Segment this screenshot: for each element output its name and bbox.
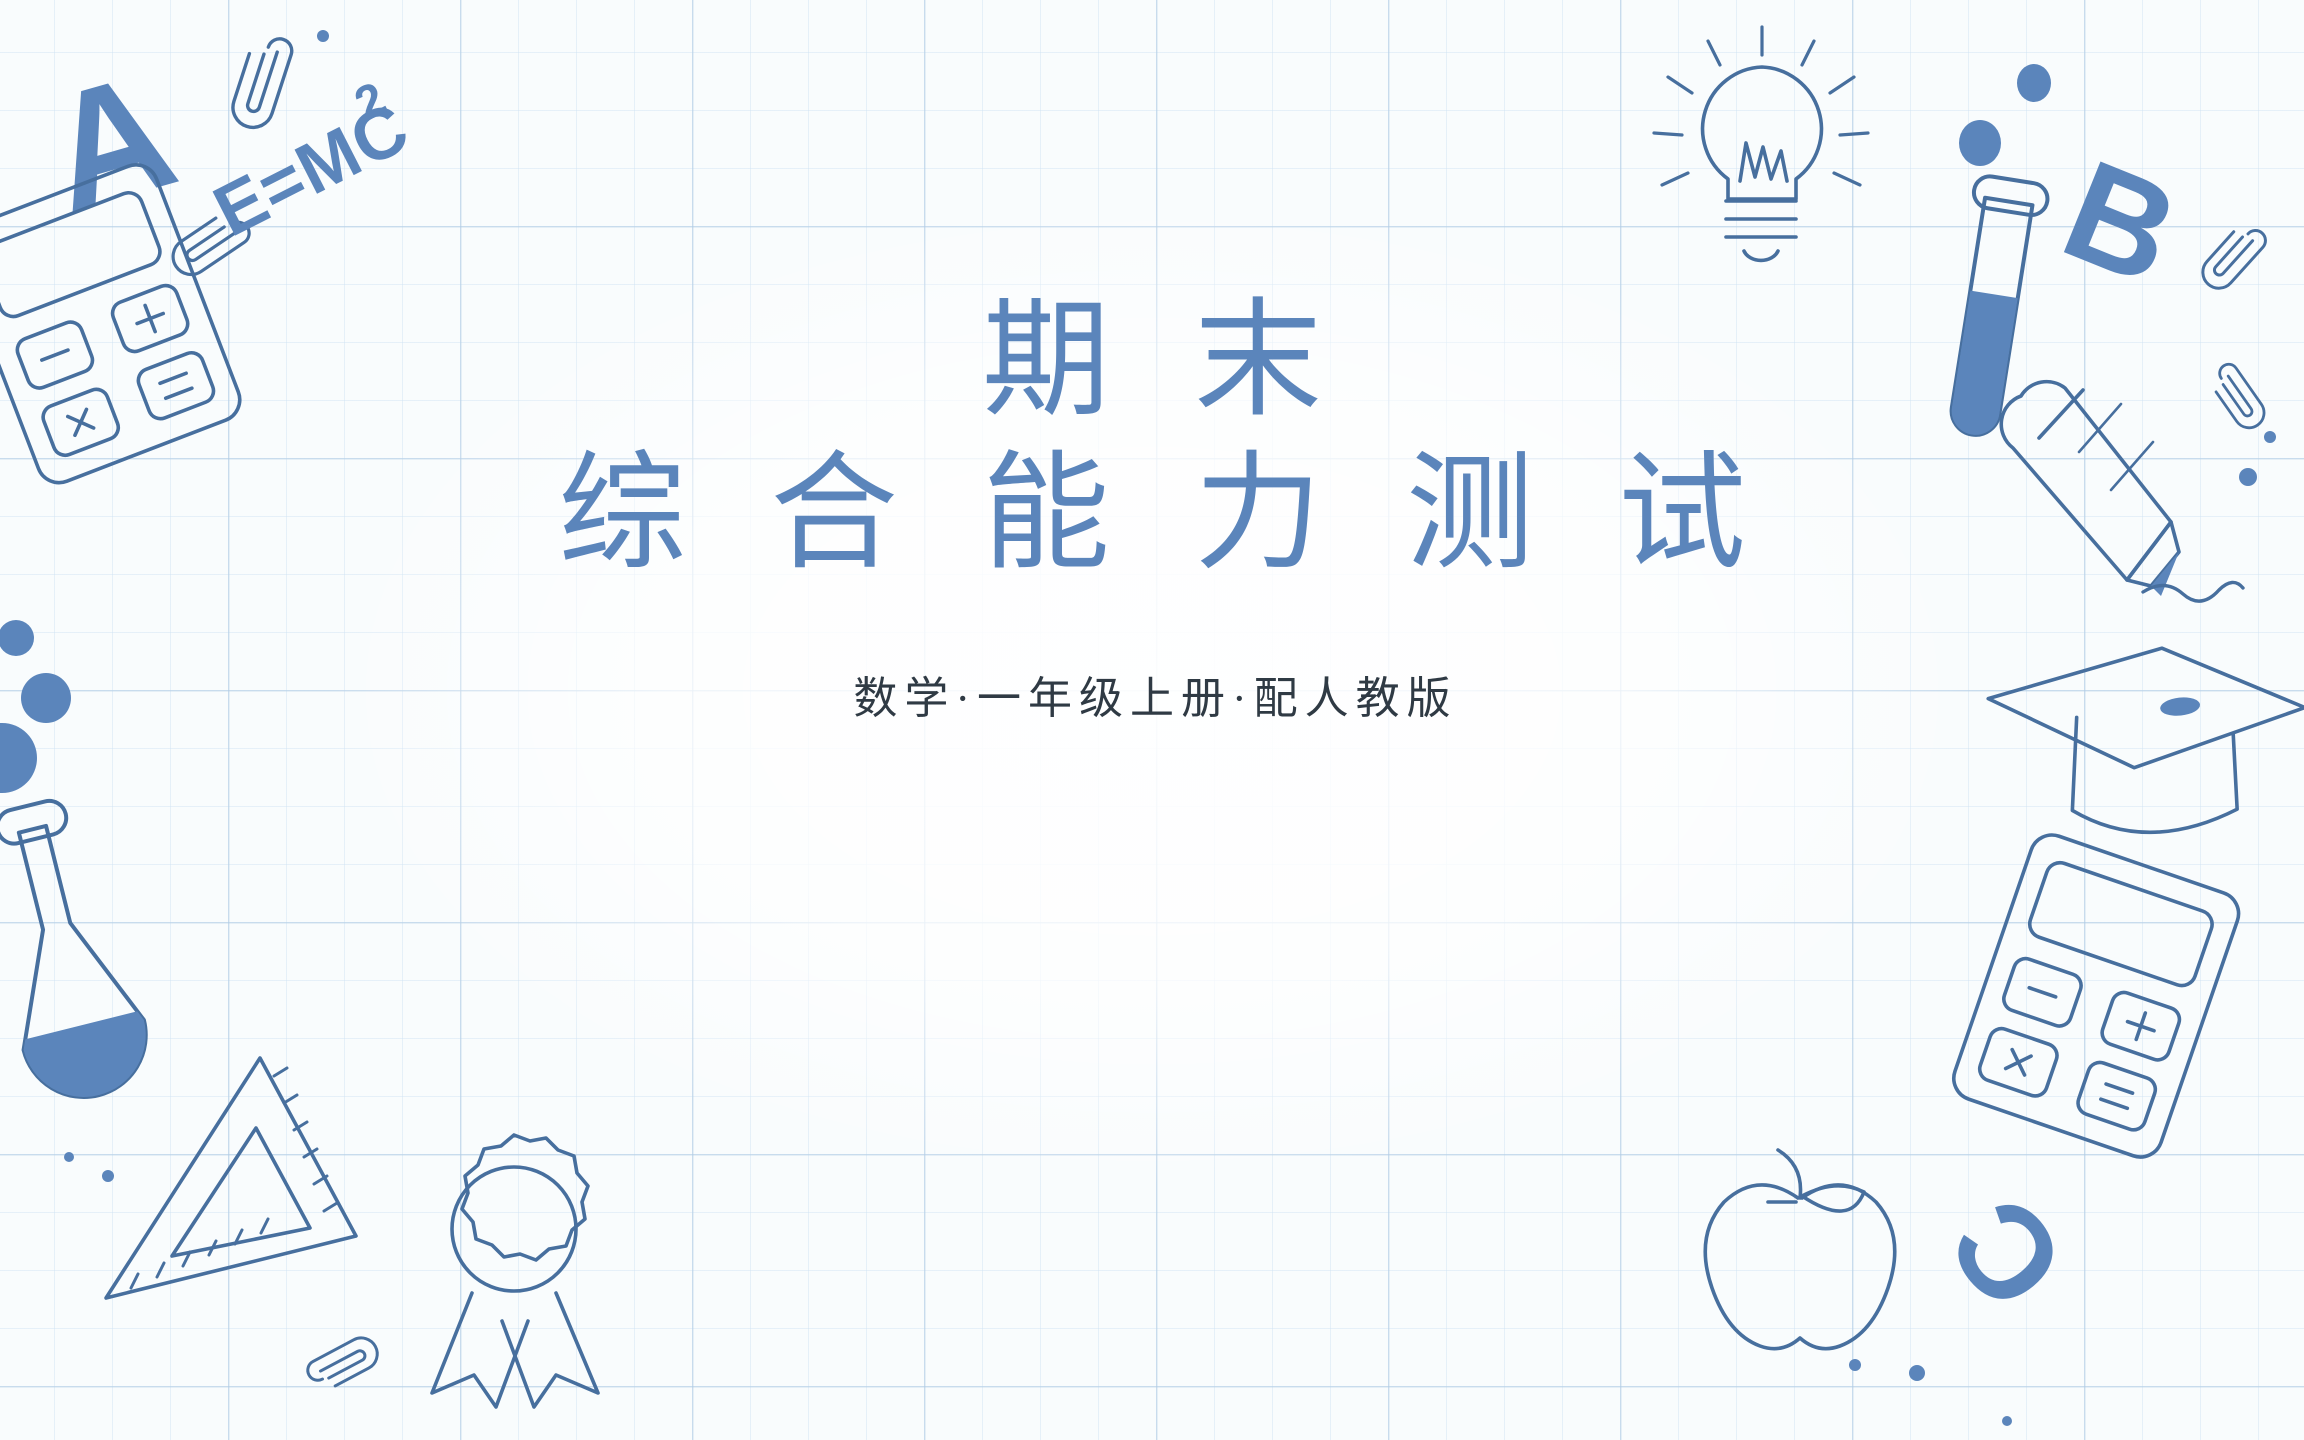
cover-slide: A E=MC 2 [0, 0, 2304, 1440]
page-title-line-1: 期 末 [0, 290, 2304, 433]
page-subtitle: 数学·一年级上册·配人教版 [0, 662, 2304, 726]
page-title-line-2: 综 合 能 力 测 试 [0, 439, 2304, 590]
cover-text-block: 期 末 综 合 能 力 测 试 数学·一年级上册·配人教版 [0, 290, 2304, 726]
